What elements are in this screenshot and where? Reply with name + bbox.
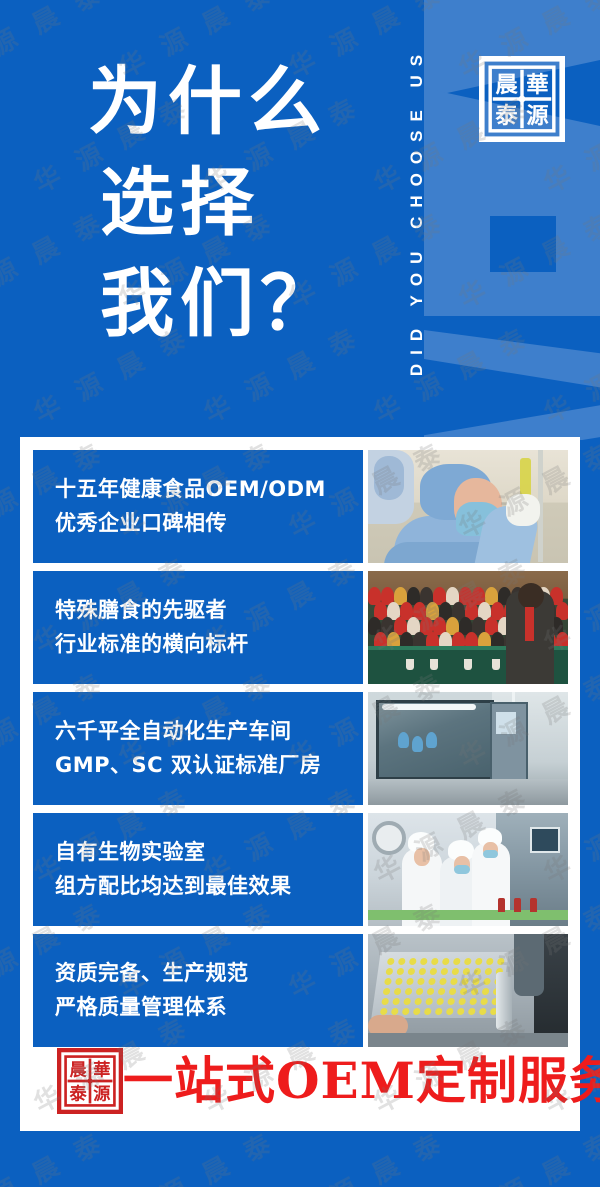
poster-root: 为什么 选择 我们？ DID YOU CHOOSE US 華 源 晨 泰 十五年… — [0, 0, 600, 1187]
tablet — [406, 978, 414, 985]
page-title: 为什么 选择 我们？ — [88, 52, 388, 355]
svg-text:晨: 晨 — [70, 1061, 88, 1081]
headline-line-1: 为什么 — [88, 52, 388, 153]
banner-slogan: 一站式OEM定制服务 — [123, 1053, 600, 1109]
tablet — [429, 968, 437, 975]
tablet — [424, 1008, 432, 1015]
feature-line-2: 行业标准的横向标杆 — [55, 627, 363, 661]
feature-line-2: 严格质量管理体系 — [55, 990, 363, 1024]
tablet — [484, 968, 492, 975]
tablet — [473, 968, 481, 975]
svg-text:源: 源 — [93, 1083, 111, 1104]
tablet — [450, 978, 458, 985]
tablet — [425, 998, 433, 1005]
lab-technician-photo — [368, 450, 568, 563]
watermark-text: 华 源 晨 泰 — [0, 1122, 112, 1187]
tablet — [436, 998, 444, 1005]
why-letter-y-stroke-2 — [424, 396, 600, 440]
why-letter-h-bar-bottom — [424, 272, 600, 316]
tablet — [451, 968, 459, 975]
tablet — [479, 1008, 487, 1015]
tablet — [439, 978, 447, 985]
why-letter-y-stroke-1 — [424, 330, 600, 396]
feature-line-1: 特殊膳食的先驱者 — [55, 593, 363, 627]
svg-text:晨: 晨 — [495, 72, 518, 98]
feature-text-block: 特殊膳食的先驱者 行业标准的横向标杆 — [33, 571, 363, 684]
tablet — [416, 988, 424, 995]
watermark-text: 华 源 晨 泰 — [366, 317, 536, 431]
tablet — [428, 978, 436, 985]
bottom-banner: 華 源 晨 泰 一站式OEM定制服务 — [33, 1042, 568, 1120]
tablet — [381, 998, 389, 1005]
tablet — [440, 968, 448, 975]
feature-text-block: 六千平全自动化生产车间 GMP、SC 双认证标准厂房 — [33, 692, 363, 805]
tablet — [453, 958, 461, 965]
tablet — [486, 958, 494, 965]
tablet — [405, 988, 413, 995]
tablet — [392, 998, 400, 1005]
vertical-tagline: DID YOU CHOOSE US — [406, 18, 428, 404]
feature-text-block: 资质完备、生产规范 严格质量管理体系 — [33, 934, 363, 1047]
tablet — [431, 958, 439, 965]
feature-row: 十五年健康食品OEM/ODM 优秀企业口碑相传 — [33, 450, 568, 563]
tablet — [464, 958, 472, 965]
tablet — [449, 988, 457, 995]
svg-text:源: 源 — [526, 103, 549, 129]
feature-text-block: 自有生物实验室 组方配比均达到最佳效果 — [33, 813, 363, 926]
tablet — [438, 988, 446, 995]
tablet — [483, 978, 491, 985]
tablet — [398, 958, 406, 965]
tablet — [385, 968, 393, 975]
why-letter-h-right — [556, 216, 600, 272]
headline-line-3: 我们？ — [88, 254, 388, 355]
tablet — [461, 978, 469, 985]
watermark-text: 华 源 晨 泰 — [536, 317, 600, 431]
feature-row: 六千平全自动化生产车间 GMP、SC 双认证标准厂房 — [33, 692, 568, 805]
tablet — [446, 1008, 454, 1015]
brand-seal-icon: 華 源 晨 泰 — [479, 56, 565, 142]
svg-text:泰: 泰 — [69, 1083, 88, 1104]
tablet — [480, 998, 488, 1005]
watermark-text: 华 源 晨 泰 — [451, 1122, 600, 1187]
tablet — [409, 958, 417, 965]
headline-line-2: 选择 — [88, 153, 388, 254]
conference-audience-photo — [368, 571, 568, 684]
production-line-photo — [368, 813, 568, 926]
tablet — [380, 1008, 388, 1015]
tablet — [460, 988, 468, 995]
tablet — [420, 958, 428, 965]
tablet — [435, 1008, 443, 1015]
feature-panel: 十五年健康食品OEM/ODM 优秀企业口碑相传 特殊膳食的先驱者 行业标准的横向… — [20, 437, 580, 1131]
blister-packing-photo — [368, 934, 568, 1047]
tablet — [417, 978, 425, 985]
tablet — [472, 978, 480, 985]
svg-text:華: 華 — [526, 71, 548, 98]
vertical-tagline-text: DID YOU CHOOSE US — [407, 46, 427, 376]
feature-text-block: 十五年健康食品OEM/ODM 优秀企业口碑相传 — [33, 450, 363, 563]
tablet — [418, 968, 426, 975]
tablet — [427, 988, 435, 995]
tablet — [462, 968, 470, 975]
feature-line-2: GMP、SC 双认证标准厂房 — [55, 748, 363, 782]
tablet — [413, 1008, 421, 1015]
tablet — [402, 1008, 410, 1015]
watermark-text: 华 源 晨 泰 — [451, 202, 600, 316]
feature-line-1: 资质完备、生产规范 — [55, 956, 363, 990]
feature-row: 自有生物实验室 组方配比均达到最佳效果 — [33, 813, 568, 926]
tablet — [442, 958, 450, 965]
banner-seal-icon: 華 源 晨 泰 — [57, 1048, 123, 1114]
tablet — [403, 998, 411, 1005]
feature-row: 特殊膳食的先驱者 行业标准的横向标杆 — [33, 571, 568, 684]
tablet — [384, 978, 392, 985]
feature-row: 资质完备、生产规范 严格质量管理体系 — [33, 934, 568, 1047]
tablet — [468, 1008, 476, 1015]
svg-text:泰: 泰 — [495, 103, 518, 129]
why-letter-h-bar-top — [424, 172, 600, 216]
feature-list: 十五年健康食品OEM/ODM 优秀企业口碑相传 特殊膳食的先驱者 行业标准的横向… — [33, 450, 568, 1047]
tablet — [447, 998, 455, 1005]
why-letter-h-left — [424, 216, 490, 272]
tablet — [383, 988, 391, 995]
tablet — [407, 968, 415, 975]
tablet — [458, 998, 466, 1005]
tablet — [497, 958, 505, 965]
watermark-text: 华 源 晨 泰 — [111, 1122, 281, 1187]
tablet — [391, 1008, 399, 1015]
tablet — [414, 998, 422, 1005]
svg-text:華: 華 — [93, 1061, 110, 1081]
feature-line-1: 自有生物实验室 — [55, 835, 363, 869]
tablet — [482, 988, 490, 995]
tablet — [471, 988, 479, 995]
tablet — [396, 968, 404, 975]
tablet — [475, 958, 483, 965]
tablet — [394, 988, 402, 995]
tablet — [387, 958, 395, 965]
feature-line-1: 十五年健康食品OEM/ODM — [55, 472, 363, 506]
tablet — [469, 998, 477, 1005]
feature-line-2: 优秀企业口碑相传 — [55, 506, 363, 540]
tablet — [457, 1008, 465, 1015]
watermark-text: 华 源 晨 泰 — [281, 1122, 451, 1187]
tablet — [395, 978, 403, 985]
feature-line-2: 组方配比均达到最佳效果 — [55, 869, 363, 903]
cleanroom-corridor-photo — [368, 692, 568, 805]
feature-line-1: 六千平全自动化生产车间 — [55, 714, 363, 748]
